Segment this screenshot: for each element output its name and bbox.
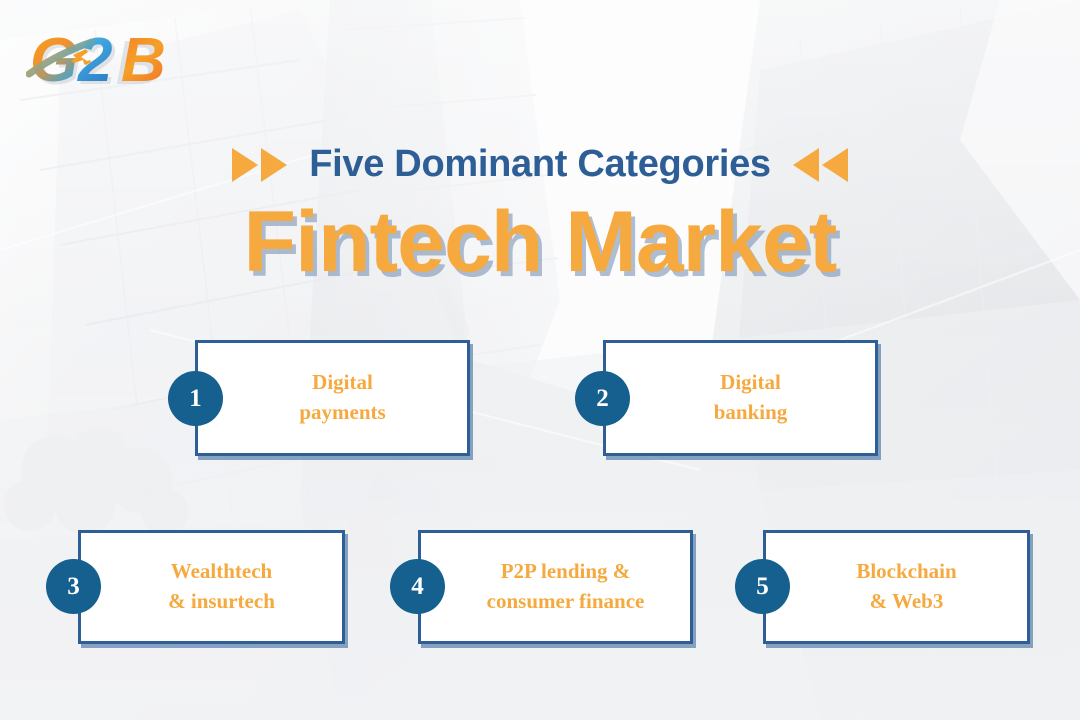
play-right-icon-1 bbox=[232, 148, 258, 182]
category-badge-4: 4 bbox=[390, 559, 445, 614]
double-play-left-icon bbox=[793, 148, 848, 182]
category-card-4[interactable]: P2P lending & consumer finance bbox=[418, 530, 693, 644]
category-card-3[interactable]: Wealthtech & insurtech bbox=[78, 530, 345, 644]
category-card-2[interactable]: Digital banking bbox=[603, 340, 878, 456]
category-badge-3: 3 bbox=[46, 559, 101, 614]
play-left-icon-1 bbox=[793, 148, 819, 182]
g2b-logo-mark: G2B G 2 B bbox=[26, 22, 196, 94]
play-left-icon-2 bbox=[822, 148, 848, 182]
category-badge-2: 2 bbox=[575, 371, 630, 426]
category-badge-5: 5 bbox=[735, 559, 790, 614]
category-card-4-label: P2P lending & consumer finance bbox=[453, 557, 659, 617]
subtitle-text: Five Dominant Categories bbox=[309, 143, 771, 186]
svg-text:B: B bbox=[121, 26, 166, 94]
category-card-5[interactable]: Blockchain & Web3 bbox=[763, 530, 1030, 644]
category-card-3-label: Wealthtech & insurtech bbox=[134, 557, 289, 617]
category-card-5-label: Blockchain & Web3 bbox=[822, 557, 970, 617]
subtitle-row: Five Dominant Categories bbox=[0, 143, 1080, 186]
category-card-2-label: Digital banking bbox=[680, 368, 802, 428]
page-title: Fintech Market bbox=[0, 196, 1080, 289]
g2b-logo[interactable]: G2B G 2 B bbox=[26, 22, 196, 94]
category-badge-1: 1 bbox=[168, 371, 223, 426]
category-card-1[interactable]: Digital payments bbox=[195, 340, 470, 456]
category-card-1-label: Digital payments bbox=[265, 368, 399, 428]
double-play-right-icon bbox=[232, 148, 287, 182]
play-right-icon-2 bbox=[261, 148, 287, 182]
